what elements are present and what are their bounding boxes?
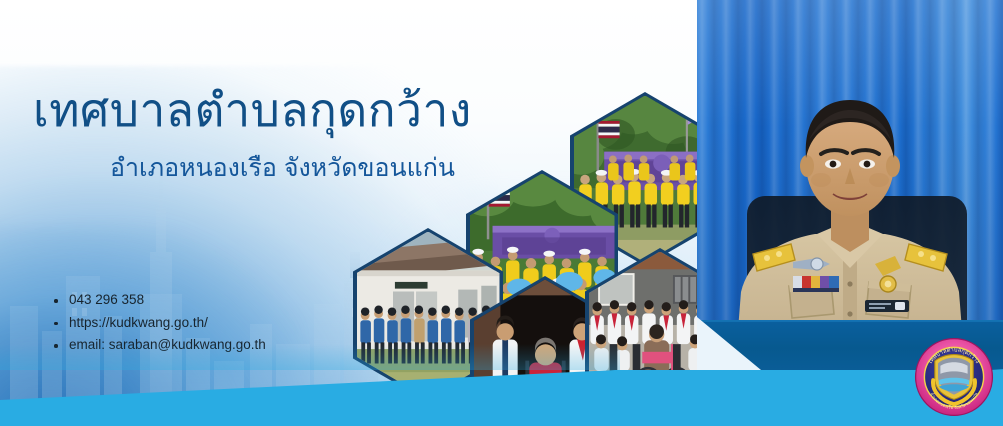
contact-website-text[interactable]: https://kudkwang.go.th/	[69, 315, 208, 330]
banner-subtitle: อำเภอหนองเรือ จังหวัดขอนแก่น	[110, 155, 455, 183]
banner-title: เทศบาลตำบลกุดกว้าง	[33, 86, 472, 134]
contact-phone: 043 296 358	[52, 289, 266, 312]
cyan-band-soft-edge	[0, 344, 620, 370]
municipality-banner: เทศบาลตำบลกุดกว้าง อำเภอหนองเรือ จังหวัด…	[0, 0, 1003, 426]
municipal-seal-icon: เทศบาลตำบลกุดกว้าง อำเภอหนองเรือ จังหวัด…	[914, 337, 994, 417]
contact-website[interactable]: https://kudkwang.go.th/	[52, 312, 266, 335]
contact-phone-text: 043 296 358	[69, 292, 144, 307]
